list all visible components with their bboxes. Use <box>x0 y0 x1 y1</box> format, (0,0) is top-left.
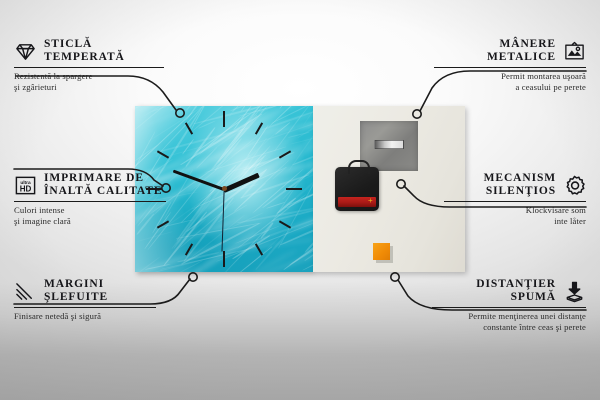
callout-title: DISTANŢIER SPUMĂ <box>476 278 556 304</box>
hanger-slot <box>374 140 404 149</box>
callout-sticla-temperata: STICLĂ TEMPERATĂ Rezistentă la spargere … <box>14 38 164 92</box>
callout-subtitle: Klockvisare som inte låter <box>444 205 586 225</box>
clock-hand-pivot <box>222 186 227 191</box>
callout-subtitle: Culori intense şi imagine clară <box>14 205 166 225</box>
callout-margini-slefuite: MARGINI ŞLEFUITE Finisare netedă şi sigu… <box>14 278 156 322</box>
battery-plus-icon: + <box>368 198 374 204</box>
callout-title: MÂNERE METALICE <box>487 38 556 64</box>
movement-hanging-loop <box>348 160 370 174</box>
clock-back-panel: + <box>313 106 465 272</box>
product-photo: + <box>135 106 465 272</box>
foam-spacer-block <box>373 243 390 260</box>
clock-tick <box>286 188 302 190</box>
polished-edges-icon <box>14 280 37 303</box>
callout-subtitle: Permite menţinerea unei distanţe constan… <box>432 311 586 331</box>
callout-title: IMPRIMARE DE ÎNALTĂ CALITATE <box>44 172 162 198</box>
callout-rule <box>444 201 586 202</box>
clock-tick <box>223 111 225 127</box>
callout-title: MARGINI ŞLEFUITE <box>44 278 108 304</box>
leader-dot-margini-slefuite <box>189 273 197 281</box>
callout-imprimare-hd: ultra HD IMPRIMARE DE ÎNALTĂ CALITATE Cu… <box>14 172 166 226</box>
callout-rule <box>14 307 156 308</box>
callout-title: MECANISM SILENŢIOS <box>484 172 556 198</box>
callout-rule <box>432 307 586 308</box>
callout-subtitle: Permit montarea uşoară a ceasului pe per… <box>434 71 586 91</box>
battery: + <box>338 197 376 207</box>
callout-mecanism-silentios: MECANISM SILENŢIOS Klockvisare som inte … <box>444 172 586 226</box>
foam-spacer-icon <box>563 280 586 303</box>
leader-dot-distantier-spuma <box>391 273 399 281</box>
clock-tick <box>223 251 225 267</box>
callout-title: STICLĂ TEMPERATĂ <box>44 38 125 64</box>
callout-manere-metalice: MÂNERE METALICE Permit montarea uşoară a… <box>434 38 586 92</box>
diamond-icon <box>14 40 37 63</box>
picture-hanger-icon <box>563 40 586 63</box>
callout-rule <box>14 201 166 202</box>
gear-icon <box>563 174 586 197</box>
clock-movement: + <box>335 167 379 211</box>
svg-text:HD: HD <box>20 184 32 193</box>
callout-subtitle: Rezistentă la spargere şi zgârieturi <box>14 71 164 91</box>
ultra-hd-icon: ultra HD <box>14 174 37 197</box>
callout-subtitle: Finisare netedă şi sigură <box>14 311 156 321</box>
callout-rule <box>14 67 164 68</box>
callout-rule <box>434 67 586 68</box>
callout-distantier-spuma: DISTANŢIER SPUMĂ Permite menţinerea unei… <box>432 278 586 332</box>
infographic-canvas: + <box>0 0 600 400</box>
